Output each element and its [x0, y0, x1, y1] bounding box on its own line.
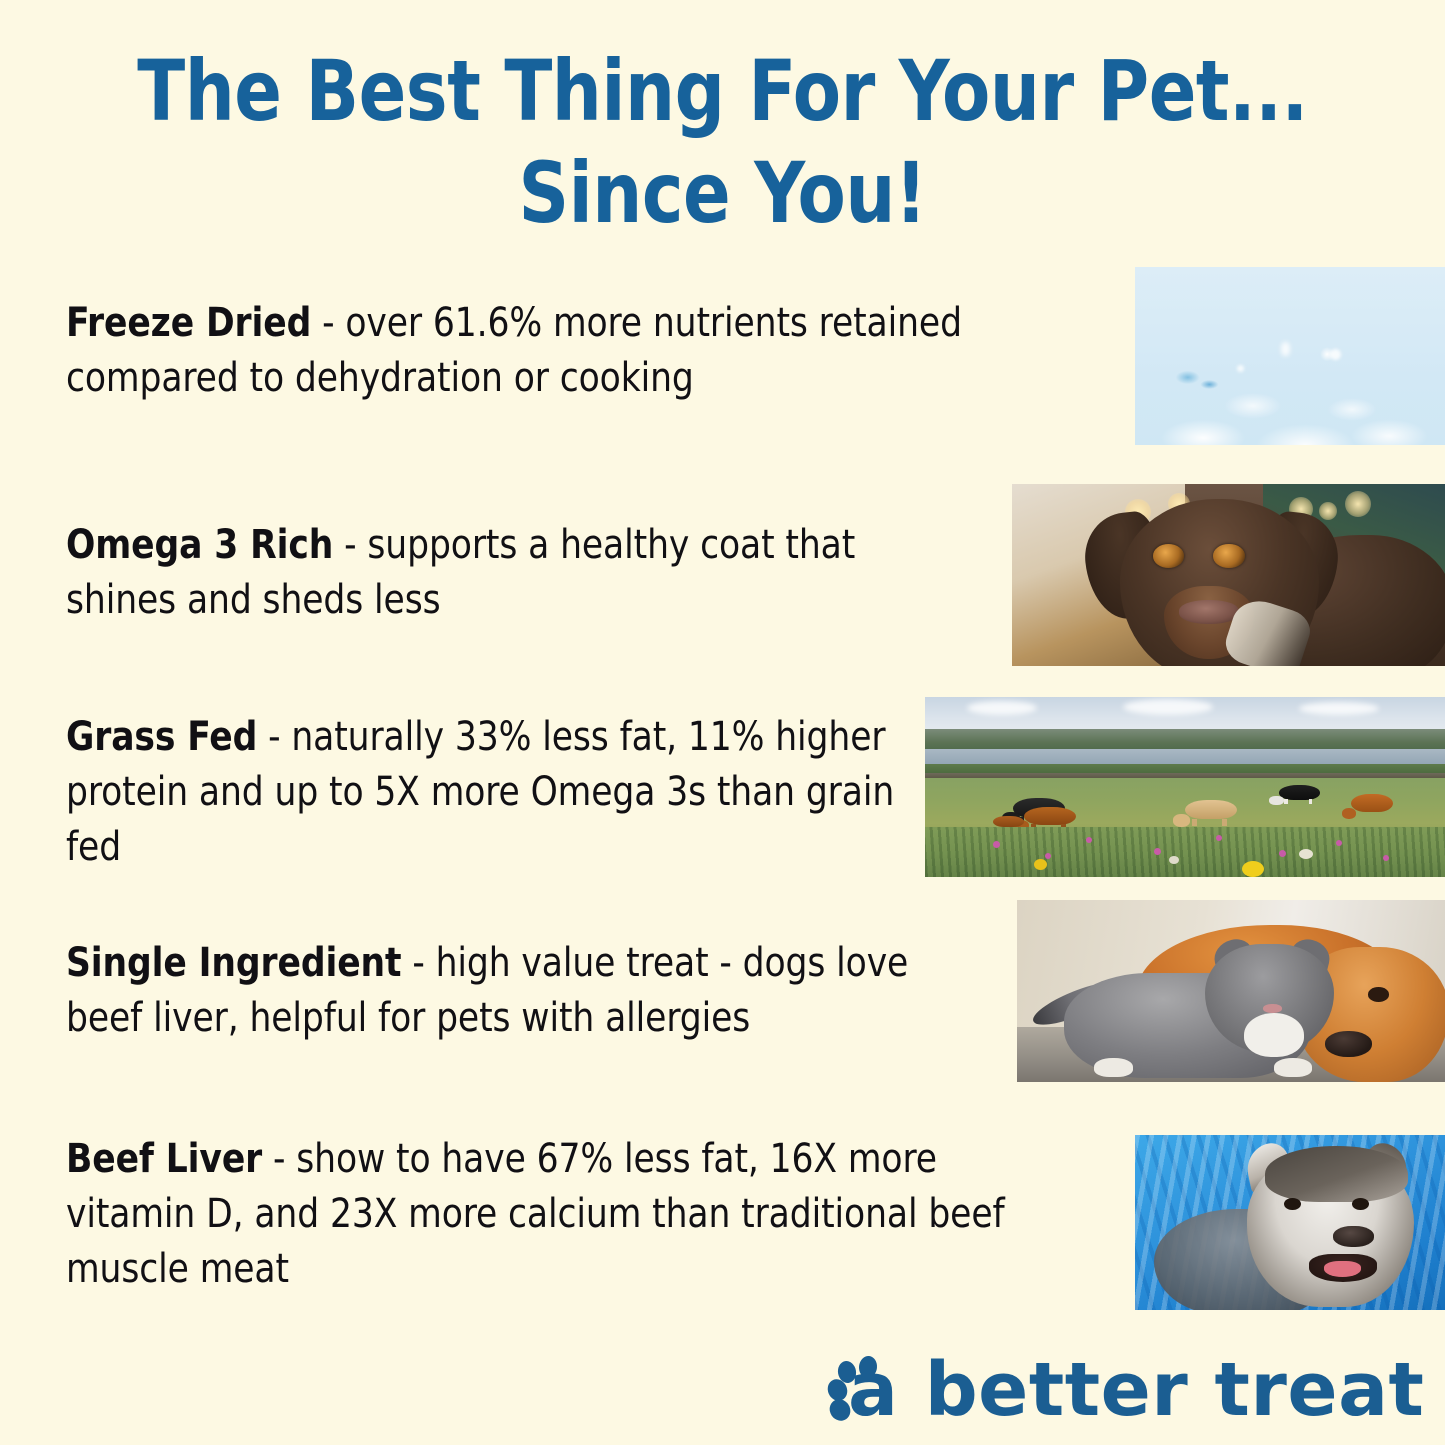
- husky-swimming-photo: [1135, 1135, 1445, 1310]
- cow-cream-center: [1185, 800, 1237, 820]
- poster-canvas: The Best Thing For Your Pet... Since You…: [0, 0, 1445, 1445]
- husky-nose: [1333, 1226, 1373, 1247]
- cow-brown-right: [1351, 794, 1393, 812]
- brand-wordmark: a better treat: [848, 1348, 1424, 1432]
- brand-logo[interactable]: a better treat: [826, 1352, 1406, 1436]
- frozen-ice-crystals-photo: [1135, 267, 1445, 445]
- cow-brown-near: [1024, 807, 1076, 825]
- cat-and-golden-retriever-photo: [1017, 900, 1445, 1082]
- cow-calf-left: [993, 816, 1024, 827]
- page-title-line-1: The Best Thing For Your Pet...: [51, 40, 1395, 142]
- husky-eye-left: [1284, 1198, 1301, 1210]
- retriever-eye: [1368, 987, 1389, 1002]
- wildflower-meadow: [925, 827, 1445, 877]
- benefit-title-grass-fed: Grass Fed: [66, 714, 257, 760]
- benefit-item-single-ingredient: Single Ingredient - high value treat - d…: [66, 936, 940, 1046]
- dog-eye-left: [1153, 544, 1184, 568]
- cat-paw-right: [1274, 1058, 1313, 1076]
- benefit-title-omega-3-rich: Omega 3 Rich: [66, 522, 333, 568]
- benefit-item-freeze-dried: Freeze Dried - over 61.6% more nutrients…: [66, 296, 1036, 406]
- cat-chest-fur: [1244, 1013, 1304, 1057]
- cat-paw-left: [1094, 1058, 1133, 1076]
- benefit-title-freeze-dried: Freeze Dried: [66, 300, 311, 346]
- chocolate-labrador-photo: [1012, 484, 1445, 666]
- benefit-item-beef-liver: Beef Liver - show to have 67% less fat, …: [66, 1132, 1012, 1297]
- cow-black-far: [1279, 785, 1321, 799]
- distant-hills: [925, 729, 1445, 751]
- husky-tongue: [1324, 1261, 1361, 1277]
- grazing-cattle-pasture-photo: [925, 697, 1445, 877]
- benefit-item-grass-fed: Grass Fed - naturally 33% less fat, 11% …: [66, 710, 911, 875]
- retriever-nose: [1325, 1031, 1372, 1056]
- husky-head-cap-fur: [1265, 1146, 1408, 1202]
- benefit-title-beef-liver: Beef Liver: [66, 1136, 262, 1182]
- benefit-item-omega-3-rich: Omega 3 Rich - supports a healthy coat t…: [66, 518, 940, 628]
- dog-eye-right: [1213, 544, 1244, 568]
- page-title-line-2: Since You!: [51, 142, 1395, 244]
- dog-nose: [1179, 600, 1240, 624]
- cat-nose: [1263, 1004, 1282, 1013]
- page-title: The Best Thing For Your Pet... Since You…: [51, 40, 1395, 245]
- benefit-title-single-ingredient: Single Ingredient: [66, 940, 401, 986]
